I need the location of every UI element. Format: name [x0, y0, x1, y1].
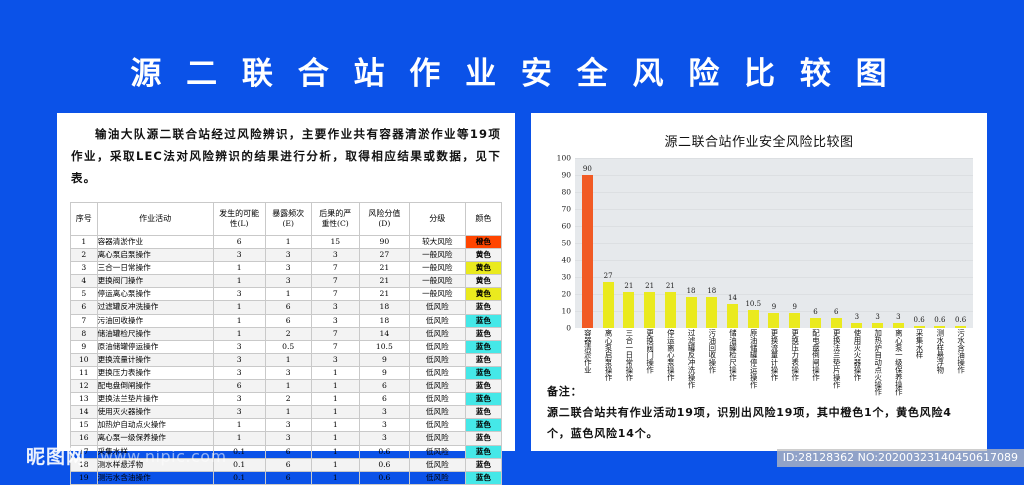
cell-score: 6	[359, 380, 409, 393]
bar-value-label: 0.6	[934, 316, 945, 325]
cell-consequence: 1	[311, 406, 359, 419]
cell-no: 11	[71, 366, 98, 379]
cell-likelihood: 3	[213, 249, 265, 262]
cell-exposure: 1	[265, 288, 311, 301]
cell-color-swatch: 蓝色	[465, 458, 501, 471]
cell-score: 27	[359, 249, 409, 262]
chart-bar[interactable]	[810, 318, 821, 328]
table-row: 15加热炉自动点火操作1313低风险蓝色	[71, 419, 502, 432]
risk-table-head: 序号 作业活动 发生的可能 性(L) 暴露频次 (E) 后果的严 重性(C)	[71, 203, 502, 236]
cell-score: 90	[359, 236, 409, 249]
cell-grade: 一般风险	[409, 262, 465, 275]
cell-color-swatch: 蓝色	[465, 393, 501, 406]
col-header-consequence-main: 后果的严	[319, 209, 351, 218]
cell-grade: 低风险	[409, 445, 465, 458]
chart-bar-group[interactable]: 0.6	[929, 158, 950, 328]
left-content-panel: 输油大队源二联合站经过风险辨识，主要作业共有容器清淤作业等19项作业，采取LEC…	[57, 113, 515, 451]
chart-note: 备注： 源二联合站共有作业活动19项，识别出风险19项，其中橙色1个，黄色风险4…	[547, 381, 971, 444]
cell-likelihood: 3	[213, 353, 265, 366]
cell-color-swatch: 蓝色	[465, 445, 501, 458]
cell-consequence: 7	[311, 340, 359, 353]
cell-grade: 一般风险	[409, 288, 465, 301]
risk-bar-chart: 1009080706050403020100 90272121211818141…	[549, 158, 973, 358]
chart-bar-group[interactable]: 3	[888, 158, 909, 328]
cell-consequence: 3	[311, 249, 359, 262]
cell-exposure: 1	[265, 380, 311, 393]
cell-likelihood: 1	[213, 327, 265, 340]
y-axis-tick: 60	[561, 222, 571, 231]
cell-no: 12	[71, 380, 98, 393]
bar-value-label: 6	[834, 308, 838, 317]
y-axis-tick: 70	[561, 205, 571, 214]
chart-bar[interactable]	[955, 326, 966, 328]
col-header-exposure: 暴露频次 (E)	[265, 203, 311, 236]
chart-bar[interactable]	[934, 326, 945, 328]
y-axis-tick: 30	[561, 273, 571, 282]
cell-score: 21	[359, 275, 409, 288]
image-id-strip: ID:28128362 NO:20200323140450617089	[777, 449, 1024, 467]
cell-exposure: 1	[265, 353, 311, 366]
poster-title: 源 二 联 合 站 作 业 安 全 风 险 比 较 图	[0, 48, 1024, 93]
table-header-row: 序号 作业活动 发生的可能 性(L) 暴露频次 (E) 后果的严 重性(C)	[71, 203, 502, 236]
cell-color-swatch: 橙色	[465, 236, 501, 249]
chart-bar[interactable]	[893, 323, 904, 328]
table-row: 16离心泵一级保养操作1313低风险蓝色	[71, 432, 502, 445]
cell-color-swatch: 黄色	[465, 288, 501, 301]
chart-title: 源二联合站作业安全风险比较图	[531, 131, 987, 150]
chart-bar-group[interactable]: 6	[826, 158, 847, 328]
cell-score: 6	[359, 393, 409, 406]
cell-color-swatch: 黄色	[465, 249, 501, 262]
cell-color-swatch: 蓝色	[465, 419, 501, 432]
col-header-exposure-sub: (E)	[266, 219, 311, 229]
cell-score: 18	[359, 301, 409, 314]
cell-color-swatch: 蓝色	[465, 314, 501, 327]
chart-bar[interactable]	[665, 292, 676, 328]
chart-bar-group[interactable]: 27	[598, 158, 619, 328]
chart-bar[interactable]	[644, 292, 655, 328]
cell-likelihood: 1	[213, 432, 265, 445]
col-header-consequence-sub: 重性(C)	[312, 219, 359, 229]
y-axis-tick: 90	[561, 171, 571, 180]
chart-y-axis: 1009080706050403020100	[549, 158, 573, 328]
table-row: 4更换阀门操作13721一般风险黄色	[71, 275, 502, 288]
chart-bar-group[interactable]: 18	[701, 158, 722, 328]
cell-color-swatch: 蓝色	[465, 340, 501, 353]
cell-grade: 低风险	[409, 380, 465, 393]
cell-grade: 低风险	[409, 353, 465, 366]
cell-consequence: 7	[311, 288, 359, 301]
cell-grade: 低风险	[409, 340, 465, 353]
cell-exposure: 6	[265, 314, 311, 327]
cell-exposure: 0.5	[265, 340, 311, 353]
y-axis-tick: 100	[557, 154, 571, 163]
bar-value-label: 10.5	[745, 300, 761, 309]
table-row: 7污油回收操作16318低风险蓝色	[71, 314, 502, 327]
cell-consequence: 3	[311, 314, 359, 327]
bar-value-label: 18	[687, 287, 696, 296]
cell-activity: 三合一日常操作	[97, 262, 213, 275]
cell-no: 10	[71, 353, 98, 366]
table-row: 12配电盘倒闸操作6116低风险蓝色	[71, 380, 502, 393]
bar-value-label: 90	[583, 165, 592, 174]
cell-grade: 低风险	[409, 471, 465, 484]
poster-canvas: 源 二 联 合 站 作 业 安 全 风 险 比 较 图 输油大队源二联合站经过风…	[0, 0, 1024, 477]
bar-value-label: 14	[728, 294, 737, 303]
chart-bar[interactable]	[914, 326, 925, 328]
cell-exposure: 1	[265, 406, 311, 419]
cell-activity: 离心泵一级保养操作	[97, 432, 213, 445]
chart-bar[interactable]	[706, 297, 717, 328]
cell-score: 21	[359, 262, 409, 275]
cell-activity: 加热炉自动点火操作	[97, 419, 213, 432]
cell-exposure: 3	[265, 419, 311, 432]
col-header-activity: 作业活动	[97, 203, 213, 236]
chart-bar[interactable]	[603, 282, 614, 328]
col-header-grade: 分级	[409, 203, 465, 236]
cell-consequence: 3	[311, 301, 359, 314]
intro-paragraph: 输油大队源二联合站经过风险辨识，主要作业共有容器清淤作业等19项作业，采取LEC…	[71, 123, 501, 189]
y-axis-tick: 50	[561, 239, 571, 248]
bar-value-label: 21	[645, 282, 654, 291]
cell-likelihood: 1	[213, 275, 265, 288]
chart-bar-group[interactable]: 9	[764, 158, 785, 328]
cell-no: 19	[71, 471, 98, 484]
cell-color-swatch: 蓝色	[465, 471, 501, 484]
chart-bar-group[interactable]: 21	[618, 158, 639, 328]
table-row: 2离心泵启泵操作33327一般风险黄色	[71, 249, 502, 262]
cell-consequence: 1	[311, 445, 359, 458]
cell-activity: 储油罐检尺操作	[97, 327, 213, 340]
chart-bar[interactable]	[582, 175, 593, 328]
cell-exposure: 2	[265, 327, 311, 340]
chart-bar[interactable]	[727, 304, 738, 328]
cell-activity: 过滤罐反冲洗操作	[97, 301, 213, 314]
chart-bar-group[interactable]: 0.6	[909, 158, 930, 328]
chart-bar[interactable]	[768, 313, 779, 328]
cell-no: 5	[71, 288, 98, 301]
cell-activity: 使用灭火器操作	[97, 406, 213, 419]
col-header-likelihood-main: 发生的可能	[219, 209, 259, 218]
cell-consequence: 1	[311, 380, 359, 393]
bar-value-label: 0.6	[955, 316, 966, 325]
cell-likelihood: 1	[213, 262, 265, 275]
bar-value-label: 21	[624, 282, 633, 291]
bar-value-label: 0.6	[914, 316, 925, 325]
chart-bar-group[interactable]: 21	[639, 158, 660, 328]
cell-consequence: 3	[311, 353, 359, 366]
chart-plot-area: 902721212118181410.599663330.60.60.6	[575, 158, 973, 328]
cell-likelihood: 0.1	[213, 471, 265, 484]
cell-no: 2	[71, 249, 98, 262]
y-axis-tick: 80	[561, 188, 571, 197]
cell-likelihood: 1	[213, 419, 265, 432]
col-header-score-sub: (D)	[360, 219, 409, 229]
cell-grade: 低风险	[409, 393, 465, 406]
cell-no: 1	[71, 236, 98, 249]
cell-score: 9	[359, 366, 409, 379]
cell-consequence: 7	[311, 262, 359, 275]
table-row: 19测污水含油操作0.1610.6低风险蓝色	[71, 471, 502, 484]
cell-activity: 配电盘倒闸操作	[97, 380, 213, 393]
col-header-no: 序号	[71, 203, 98, 236]
cell-consequence: 7	[311, 327, 359, 340]
cell-score: 21	[359, 288, 409, 301]
col-header-score: 风险分值 (D)	[359, 203, 409, 236]
col-header-color: 颜色	[465, 203, 501, 236]
cell-likelihood: 3	[213, 288, 265, 301]
chart-bar-group[interactable]: 6	[805, 158, 826, 328]
table-row: 1容器清淤作业611590较大风险橙色	[71, 236, 502, 249]
chart-bar[interactable]	[789, 313, 800, 328]
table-row: 11更换压力表操作3319低风险蓝色	[71, 366, 502, 379]
chart-bar-group[interactable]: 0.6	[950, 158, 971, 328]
cell-score: 3	[359, 419, 409, 432]
y-axis-tick: 0	[566, 324, 571, 333]
cell-likelihood: 3	[213, 366, 265, 379]
cell-consequence: 1	[311, 393, 359, 406]
right-chart-panel: 源二联合站作业安全风险比较图 1009080706050403020100 90…	[531, 113, 987, 451]
chart-bar-group[interactable]: 18	[681, 158, 702, 328]
cell-grade: 低风险	[409, 406, 465, 419]
risk-table: 序号 作业活动 发生的可能 性(L) 暴露频次 (E) 后果的严 重性(C)	[70, 202, 502, 485]
cell-grade: 低风险	[409, 327, 465, 340]
cell-grade: 较大风险	[409, 236, 465, 249]
cell-likelihood: 3	[213, 340, 265, 353]
cell-exposure: 6	[265, 301, 311, 314]
note-label: 备注：	[547, 381, 971, 402]
cell-grade: 低风险	[409, 366, 465, 379]
cell-exposure: 3	[265, 432, 311, 445]
table-row: 9原油储罐停运操作30.5710.5低风险蓝色	[71, 340, 502, 353]
cell-score: 0.6	[359, 471, 409, 484]
chart-bar-group[interactable]: 90	[577, 158, 598, 328]
bar-value-label: 27	[604, 272, 613, 281]
chart-bar-group[interactable]: 21	[660, 158, 681, 328]
cell-activity: 更换法兰垫片操作	[97, 393, 213, 406]
table-row: 3三合一日常操作13721一般风险黄色	[71, 262, 502, 275]
table-row: 5停运离心泵操作31721一般风险黄色	[71, 288, 502, 301]
cell-no: 8	[71, 327, 98, 340]
cell-consequence: 1	[311, 419, 359, 432]
cell-activity: 测污水含油操作	[97, 471, 213, 484]
cell-grade: 低风险	[409, 432, 465, 445]
cell-color-swatch: 蓝色	[465, 406, 501, 419]
cell-no: 9	[71, 340, 98, 353]
cell-color-swatch: 蓝色	[465, 301, 501, 314]
bar-value-label: 9	[772, 303, 776, 312]
cell-activity: 原油储罐停运操作	[97, 340, 213, 353]
chart-bar-group[interactable]: 9	[784, 158, 805, 328]
bar-value-label: 6	[813, 308, 817, 317]
cell-no: 3	[71, 262, 98, 275]
bar-value-label: 18	[707, 287, 716, 296]
cell-grade: 低风险	[409, 301, 465, 314]
cell-grade: 低风险	[409, 314, 465, 327]
cell-score: 3	[359, 406, 409, 419]
y-axis-tick: 20	[561, 290, 571, 299]
cell-color-swatch: 黄色	[465, 262, 501, 275]
col-header-likelihood: 发生的可能 性(L)	[213, 203, 265, 236]
cell-activity: 更换阀门操作	[97, 275, 213, 288]
cell-consequence: 15	[311, 236, 359, 249]
cell-exposure: 3	[265, 366, 311, 379]
cell-consequence: 1	[311, 432, 359, 445]
watermark-url: www.nipic.com	[100, 447, 227, 466]
cell-activity: 更换压力表操作	[97, 366, 213, 379]
bar-value-label: 21	[666, 282, 675, 291]
cell-exposure: 1	[265, 236, 311, 249]
y-axis-tick: 10	[561, 307, 571, 316]
cell-color-swatch: 蓝色	[465, 432, 501, 445]
table-row: 6过滤罐反冲洗操作16318低风险蓝色	[71, 301, 502, 314]
cell-exposure: 3	[265, 275, 311, 288]
cell-color-swatch: 蓝色	[465, 380, 501, 393]
chart-bar[interactable]	[623, 292, 634, 328]
cell-consequence: 1	[311, 458, 359, 471]
cell-score: 9	[359, 353, 409, 366]
cell-no: 7	[71, 314, 98, 327]
y-axis-tick: 40	[561, 256, 571, 265]
cell-grade: 一般风险	[409, 275, 465, 288]
note-body: 源二联合站共有作业活动19项，识别出风险19项，其中橙色1个，黄色风险4个，蓝色…	[547, 402, 971, 444]
chart-bar[interactable]	[686, 297, 697, 328]
table-row: 14使用灭火器操作3113低风险蓝色	[71, 406, 502, 419]
cell-likelihood: 6	[213, 236, 265, 249]
bar-value-label: 3	[855, 313, 859, 322]
cell-activity: 离心泵启泵操作	[97, 249, 213, 262]
col-header-likelihood-sub: 性(L)	[214, 219, 265, 229]
cell-score: 10.5	[359, 340, 409, 353]
cell-consequence: 1	[311, 366, 359, 379]
chart-bar-group[interactable]: 3	[867, 158, 888, 328]
cell-activity: 污油回收操作	[97, 314, 213, 327]
cell-activity: 停运离心泵操作	[97, 288, 213, 301]
cell-activity: 更换流量计操作	[97, 353, 213, 366]
cell-consequence: 1	[311, 471, 359, 484]
cell-no: 6	[71, 301, 98, 314]
cell-exposure: 6	[265, 471, 311, 484]
cell-no: 15	[71, 419, 98, 432]
bar-value-label: 3	[896, 313, 900, 322]
col-header-exposure-main: 暴露频次	[272, 209, 304, 218]
cell-score: 18	[359, 314, 409, 327]
cell-score: 14	[359, 327, 409, 340]
cell-likelihood: 3	[213, 393, 265, 406]
cell-score: 3	[359, 432, 409, 445]
chart-bar-group[interactable]: 14	[722, 158, 743, 328]
cell-likelihood: 1	[213, 301, 265, 314]
cell-score: 0.6	[359, 445, 409, 458]
table-row: 8储油罐检尺操作12714低风险蓝色	[71, 327, 502, 340]
chart-bar-group[interactable]: 3	[847, 158, 868, 328]
cell-color-swatch: 蓝色	[465, 353, 501, 366]
cell-exposure: 6	[265, 458, 311, 471]
chart-bar[interactable]	[831, 318, 842, 328]
chart-bar[interactable]	[851, 323, 862, 328]
bar-value-label: 3	[875, 313, 879, 322]
cell-exposure: 6	[265, 445, 311, 458]
table-row: 13更换法兰垫片操作3216低风险蓝色	[71, 393, 502, 406]
cell-exposure: 2	[265, 393, 311, 406]
cell-color-swatch: 蓝色	[465, 327, 501, 340]
table-row: 10更换流量计操作3139低风险蓝色	[71, 353, 502, 366]
risk-table-wrapper: 序号 作业活动 发生的可能 性(L) 暴露频次 (E) 后果的严 重性(C)	[70, 202, 502, 485]
cell-consequence: 7	[311, 275, 359, 288]
cell-color-swatch: 蓝色	[465, 366, 501, 379]
cell-no: 4	[71, 275, 98, 288]
cell-color-swatch: 黄色	[465, 275, 501, 288]
chart-bar-group[interactable]: 10.5	[743, 158, 764, 328]
cell-grade: 一般风险	[409, 249, 465, 262]
cell-score: 0.6	[359, 458, 409, 471]
chart-bar[interactable]	[872, 323, 883, 328]
cell-exposure: 3	[265, 249, 311, 262]
col-header-score-main: 风险分值	[368, 209, 400, 218]
cell-likelihood: 3	[213, 406, 265, 419]
watermark-logo: 昵图网	[26, 442, 86, 469]
col-header-consequence: 后果的严 重性(C)	[311, 203, 359, 236]
cell-activity: 容器清淤作业	[97, 236, 213, 249]
cell-grade: 低风险	[409, 419, 465, 432]
cell-likelihood: 1	[213, 314, 265, 327]
bar-value-label: 9	[792, 303, 796, 312]
cell-no: 14	[71, 406, 98, 419]
cell-exposure: 3	[265, 262, 311, 275]
cell-likelihood: 6	[213, 380, 265, 393]
cell-grade: 低风险	[409, 458, 465, 471]
cell-no: 13	[71, 393, 98, 406]
chart-bar[interactable]	[748, 310, 759, 328]
